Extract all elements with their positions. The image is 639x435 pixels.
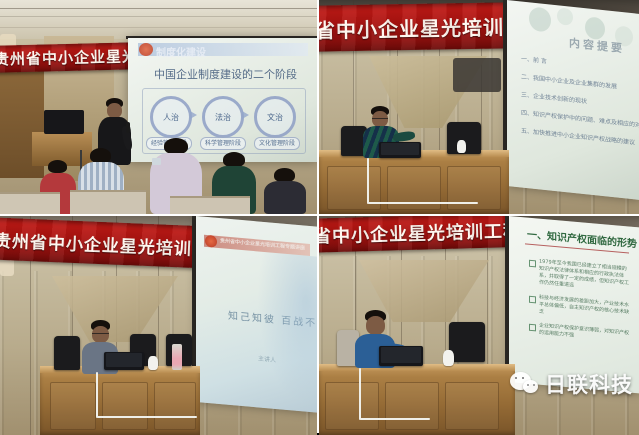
glasses-icon xyxy=(92,333,109,334)
seminar-room-scene: 省中小企业星光培训工程 "加强 内容提要 一、前 言 二、我国中小企业及企业集群… xyxy=(319,0,639,214)
projection-screen: 内容提要 一、前 言 二、我国中小企业及企业集群的发展 三、企业技术创新的现状 … xyxy=(507,0,639,200)
projection-screen: 贵州省中小企业星光培训工程专题讲座 知己知彼 百战不殆 主讲人 xyxy=(196,216,317,413)
microphone-icon xyxy=(126,122,130,133)
bottle xyxy=(172,344,182,370)
paper-cup xyxy=(148,356,158,370)
conference-table xyxy=(319,150,509,214)
collage-panel-bottom-right: 省中小企业星光培训工程 "加强 一、知识产权面临的形势 1979年至今我国已经建… xyxy=(319,216,639,435)
laptop xyxy=(379,346,423,366)
slide-tag-2: 科学管理阶段 xyxy=(200,137,246,150)
collage-panel-top-right: 省中小企业星光培训工程 "加强 内容提要 一、前 言 二、我国中小企业及企业集群… xyxy=(319,0,639,214)
slide-node-3-label: 文治 xyxy=(267,112,283,123)
slide-item: 三、企业技术创新的现状 xyxy=(521,89,587,105)
slide-tag-3: 文化管理阶段 xyxy=(254,137,300,150)
slide-subtitle: 中国企业制度建设的二个阶段 xyxy=(154,66,297,82)
seminar-room-scene: 贵州省中小企业星光培训 制度化建设 中国企业制度建设的二个阶段 人治 法治 xyxy=(0,0,317,214)
photo-collage: 贵州省中小企业星光培训 制度化建设 中国企业制度建设的二个阶段 人治 法治 xyxy=(0,0,639,433)
audience-member xyxy=(262,168,308,214)
slide-bullet: 1979年至今我国已经建立了相当规模的知识产权法律体系和相应的行政执法体系，并取… xyxy=(539,259,631,295)
conference-table xyxy=(40,366,200,435)
projection-screen: 一、知识产权面临的形势 1979年至今我国已经建立了相当规模的知识产权法律体系和… xyxy=(509,216,639,394)
chair xyxy=(449,322,485,362)
slide-node-2-label: 法治 xyxy=(215,112,231,123)
slide-bullet: 科技与经济发展的差距加大，产业技术水平总体偏低，自主知识产权的核心技术缺乏 xyxy=(539,295,631,324)
slide-node-2: 法治 xyxy=(202,96,244,138)
slide-node-1-label: 人治 xyxy=(163,112,179,123)
seminar-room-scene: 省中小企业星光培训工程 "加强 一、知识产权面临的形势 1979年至今我国已经建… xyxy=(319,216,639,435)
event-banner: 贵州省中小企业星光培训工程 "加强中小 xyxy=(0,217,209,268)
slide-title: 制度化建设 xyxy=(156,44,206,59)
slide-item: 五、加快推进中小企业知识产权战略的建议 xyxy=(521,125,635,146)
seminar-room-scene: 贵州省中小企业星光培训工程 "加强中小 贵州省中小企业星光培训工程专题讲座 知己… xyxy=(0,216,317,435)
event-banner: 贵州省中小企业星光培训 xyxy=(0,42,144,73)
event-banner: 省中小企业星光培训工程 "加强 xyxy=(319,2,513,51)
slide-content: 贵州省中小企业星光培训工程专题讲座 知己知彼 百战不殆 主讲人 xyxy=(196,216,317,413)
slide-node-1: 人治 xyxy=(150,96,192,138)
slide-bullet: 企业知识产权保护意识薄弱，对知识产权的运用能力不强 xyxy=(539,323,631,345)
slide-content: 一、知识产权面临的形势 1979年至今我国已经建立了相当规模的知识产权法律体系和… xyxy=(509,216,639,394)
event-banner: 省中小企业星光培训工程 "加强 xyxy=(319,216,507,253)
glasses-icon xyxy=(372,118,388,119)
slide-title: 一、知识产权面临的形势 xyxy=(527,226,637,251)
room-ceiling xyxy=(0,0,317,39)
slide-item: 一、前 言 xyxy=(521,53,547,65)
slide-item: 二、我国中小企业及企业集群的发展 xyxy=(521,71,617,90)
paper-cup xyxy=(443,350,454,366)
laptop xyxy=(104,352,144,370)
conference-table xyxy=(319,364,515,435)
paper-cup xyxy=(457,140,466,153)
collage-panel-top-left: 贵州省中小企业星光培训 制度化建设 中国企业制度建设的二个阶段 人治 法治 xyxy=(0,0,317,214)
slide-node-3: 文治 xyxy=(254,96,296,138)
collage-panel-bottom-left: 贵州省中小企业星光培训工程 "加强中小 贵州省中小企业星光培训工程专题讲座 知己… xyxy=(0,216,317,435)
slide-content: 内容提要 一、前 言 二、我国中小企业及企业集群的发展 三、企业技术创新的现状 … xyxy=(507,0,639,200)
laptop xyxy=(379,142,421,158)
chair xyxy=(54,336,80,370)
